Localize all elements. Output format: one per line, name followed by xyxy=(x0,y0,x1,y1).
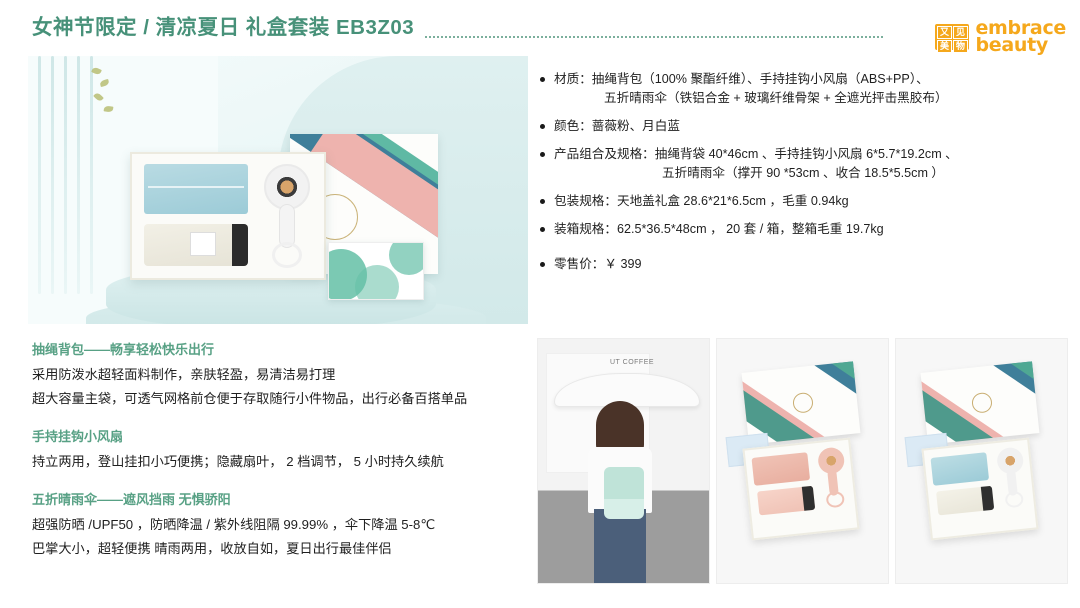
gold-seal-icon xyxy=(792,392,814,414)
header-dotted-divider xyxy=(424,36,884,38)
spec-item-body: 产品组合及规格：抽绳背袋 40*46cm 、手持挂钩小风扇 6*5.7*19.2… xyxy=(554,145,958,183)
spec-label: 材质： xyxy=(554,72,592,86)
product-spec-sheet: 女神节限定 / 清凉夏日 礼盒套装 EB3Z03 又 见 美 物 embrace… xyxy=(0,0,1080,608)
spec-value-cont: 五折晴雨伞（撑开 90 *53cm 、收合 18.5*5.5cm ） xyxy=(554,164,958,183)
spec-value: 抽绳背袋 40*46cm 、手持挂钩小风扇 6*5.7*19.2cm 、 xyxy=(655,147,958,161)
feature-block-fan: 手持挂钩小风扇 持立两用，登山挂扣小巧便携；隐藏扇叶， 2 档调节， 5 小时持… xyxy=(32,427,528,474)
spec-label: 颜色： xyxy=(554,119,592,133)
thumbnail-giftbox-rose-pink xyxy=(716,338,889,584)
spec-value: 天地盖礼盒 28.6*21*6.5cm ，毛重 0.94kg xyxy=(617,194,849,208)
specification-list: 材质：抽绳背包（100% 聚酯纤维）、手持挂钩小风扇（ABS+PP）、 五折晴雨… xyxy=(540,70,1070,283)
retail-price-label: 零售价： xyxy=(554,257,604,271)
logo-char-3: 美 xyxy=(937,40,952,53)
umbrella-label xyxy=(190,232,216,256)
thumbnail-model-shot: UT COFFEE xyxy=(537,338,710,584)
spec-item: 装箱规格：62.5*36.5*48cm ， 20 套 / 箱，整箱毛重 19.7… xyxy=(540,220,1070,239)
giftbox-tray xyxy=(921,438,1038,541)
bullet-icon xyxy=(540,227,545,232)
hero-greeting-card xyxy=(328,242,424,300)
feature-block-umbrella: 五折晴雨伞——遮风挡雨 无惧骄阳 超强防晒 /UPF50 ，防晒降温 / 紫外线… xyxy=(32,490,528,561)
spec-item-body: 材质：抽绳背包（100% 聚酯纤维）、手持挂钩小风扇（ABS+PP）、 五折晴雨… xyxy=(554,70,948,108)
feature-line: 超大容量主袋，可透气网格前仓便于存取随行小件物品，出行必备百搭单品 xyxy=(32,387,528,411)
bullet-icon xyxy=(540,124,545,129)
feature-heading: 抽绳背包——畅享轻松快乐出行 xyxy=(32,340,528,360)
giftbox-lid xyxy=(742,361,861,444)
feature-heading: 手持挂钩小风扇 xyxy=(32,427,528,447)
spec-label: 装箱规格： xyxy=(554,222,617,236)
hero-item-drawstring-bag xyxy=(144,164,248,214)
page-title-text: 女神节限定 / 清凉夏日 礼盒套装 EB3Z03 xyxy=(32,18,414,39)
spec-value-cont: 五折晴雨伞（铁铝合金 + 玻璃纤维骨架 + 全遮光抨击黑胶布） xyxy=(554,89,948,108)
logo-char-2: 见 xyxy=(953,26,968,39)
bullet-icon xyxy=(540,77,545,82)
logo-char-1: 又 xyxy=(937,26,952,39)
page-title: 女神节限定 / 清凉夏日 礼盒套装 EB3Z03 xyxy=(32,18,414,39)
logo-mark-icon: 又 见 美 物 xyxy=(935,24,969,50)
brand-logo: 又 见 美 物 embrace beauty xyxy=(935,20,1066,55)
spec-value: 蔷薇粉、月白蓝 xyxy=(592,119,680,133)
bullet-icon xyxy=(540,199,545,204)
spec-item: 产品组合及规格：抽绳背袋 40*46cm 、手持挂钩小风扇 6*5.7*19.2… xyxy=(540,145,1070,183)
feature-line: 巴掌大小，超轻便携 晴雨两用，收放自如，夏日出行最佳伴侣 xyxy=(32,537,528,561)
retail-price-value: ￥ 399 xyxy=(604,257,641,271)
item-drawstring-bag xyxy=(751,452,810,486)
feature-heading: 五折晴雨伞——遮风挡雨 无惧骄阳 xyxy=(32,490,528,510)
page-header: 女神节限定 / 清凉夏日 礼盒套装 EB3Z03 又 见 美 物 embrace… xyxy=(0,16,1080,60)
feature-line: 采用防泼水超轻面料制作，亲肤轻盈，易清洁易打理 xyxy=(32,363,528,387)
feature-sections: 抽绳背包——畅享轻松快乐出行 采用防泼水超轻面料制作，亲肤轻盈，易清洁易打理 超… xyxy=(32,340,528,577)
feature-line: 超强防晒 /UPF50 ，防晒降温 / 紫外线阻隔 99.99% ，伞下降温 5… xyxy=(32,513,528,537)
thumbnail-giftbox-moon-blue xyxy=(895,338,1068,584)
retail-price-row: 零售价：￥ 399 xyxy=(540,255,1070,274)
spec-value: 62.5*36.5*48cm ， 20 套 / 箱，整箱毛重 19.7kg xyxy=(617,222,884,236)
spec-label: 产品组合及规格： xyxy=(554,147,655,161)
item-umbrella xyxy=(936,486,994,516)
spec-label: 包装规格： xyxy=(554,194,617,208)
feature-line: 持立两用，登山挂扣小巧便携；隐藏扇叶， 2 档调节， 5 小时持久续航 xyxy=(32,450,528,474)
bullet-icon xyxy=(540,152,545,157)
giftbox-lid xyxy=(921,361,1040,444)
feature-block-backpack: 抽绳背包——畅享轻松快乐出行 采用防泼水超轻面料制作，亲肤轻盈，易清洁易打理 超… xyxy=(32,340,528,411)
item-fan xyxy=(994,446,1030,511)
spec-item-body: 颜色：蔷薇粉、月白蓝 xyxy=(554,117,680,136)
spec-item: 颜色：蔷薇粉、月白蓝 xyxy=(540,117,1070,136)
spec-item: 材质：抽绳背包（100% 聚酯纤维）、手持挂钩小风扇（ABS+PP）、 五折晴雨… xyxy=(540,70,1070,108)
item-fan xyxy=(815,446,851,511)
giftbox-tray xyxy=(742,438,859,541)
logo-wordmark: embrace beauty xyxy=(975,20,1066,55)
spec-item: 包装规格：天地盖礼盒 28.6*21*6.5cm ，毛重 0.94kg xyxy=(540,192,1070,211)
bullet-icon xyxy=(540,262,545,267)
spec-item-body: 包装规格：天地盖礼盒 28.6*21*6.5cm ，毛重 0.94kg xyxy=(554,192,849,211)
thumbnail-brand-text: UT COFFEE xyxy=(610,359,654,366)
model-jeans xyxy=(594,509,646,584)
logo-line-2: beauty xyxy=(975,37,1066,54)
hero-item-fan xyxy=(260,164,314,268)
item-umbrella xyxy=(757,486,815,516)
retail-price-body: 零售价：￥ 399 xyxy=(554,255,641,274)
gold-seal-icon xyxy=(971,392,993,414)
item-drawstring-bag xyxy=(930,452,989,486)
mint-drawstring-backpack xyxy=(604,467,644,519)
logo-char-4: 物 xyxy=(953,40,968,53)
spec-item-body: 装箱规格：62.5*36.5*48cm ， 20 套 / 箱，整箱毛重 19.7… xyxy=(554,220,884,239)
decorative-reeds-icon xyxy=(36,56,98,296)
hero-product-image xyxy=(28,56,528,324)
hero-giftbox-tray xyxy=(130,152,326,280)
spec-value: 抽绳背包（100% 聚酯纤维）、手持挂钩小风扇（ABS+PP）、 xyxy=(592,72,929,86)
thumbnail-strip: UT COFFEE xyxy=(537,338,1068,584)
hero-item-umbrella xyxy=(144,224,248,266)
